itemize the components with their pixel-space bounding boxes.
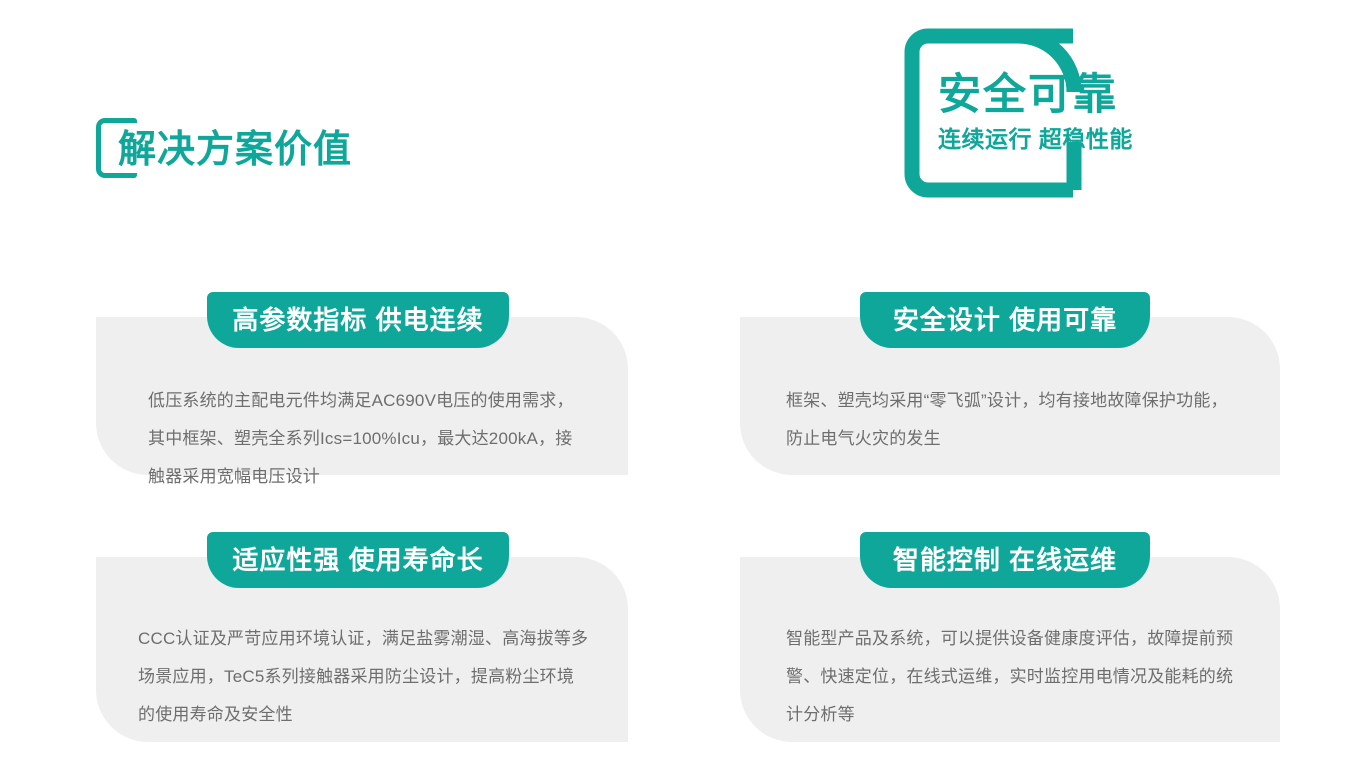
logo-headline: 安全可靠 — [938, 74, 1178, 117]
card-heading-pill: 高参数指标 供电连续 — [207, 292, 509, 348]
card-heading-pill: 智能控制 在线运维 — [860, 532, 1150, 588]
card-body-text: 智能型产品及系统，可以提供设备健康度评估，故障提前预警、快速定位，在线式运维，实… — [786, 620, 1238, 734]
card-body-text: CCC认证及严苛应用环境认证，满足盐雾潮湿、高海拔等多场景应用，TeC5系列接触… — [138, 620, 590, 734]
value-card: 安全设计 使用可靠 框架、塑壳均采用“零飞弧”设计，均有接地故障保护功能，防止电… — [740, 292, 1280, 500]
card-body-text: 低压系统的主配电元件均满足AC690V电压的使用需求，其中框架、塑壳全系列Ics… — [148, 382, 578, 496]
slide-canvas: 解决方案价值 安全可靠 连续运行 超稳性能 高参数指标 供电连续 低压系统的主配… — [0, 0, 1350, 782]
card-body-text: 框架、塑壳均采用“零飞弧”设计，均有接地故障保护功能，防止电气火灾的发生 — [786, 382, 1236, 458]
value-card: 高参数指标 供电连续 低压系统的主配电元件均满足AC690V电压的使用需求，其中… — [96, 292, 628, 500]
card-heading-pill: 安全设计 使用可靠 — [860, 292, 1150, 348]
card-heading-pill: 适应性强 使用寿命长 — [207, 532, 509, 588]
card-heading: 高参数指标 供电连续 — [232, 307, 483, 333]
value-card: 智能控制 在线运维 智能型产品及系统，可以提供设备健康度评估，故障提前预警、快速… — [740, 532, 1280, 740]
logo-badge: 安全可靠 连续运行 超稳性能 — [898, 22, 1103, 204]
card-heading: 安全设计 使用可靠 — [893, 307, 1117, 333]
page-title: 解决方案价值 — [118, 110, 352, 190]
logo-subhead: 连续运行 超稳性能 — [938, 128, 1178, 151]
card-heading: 适应性强 使用寿命长 — [232, 547, 483, 573]
value-card: 适应性强 使用寿命长 CCC认证及严苛应用环境认证，满足盐雾潮湿、高海拔等多场景… — [96, 532, 628, 740]
card-heading: 智能控制 在线运维 — [893, 547, 1117, 573]
